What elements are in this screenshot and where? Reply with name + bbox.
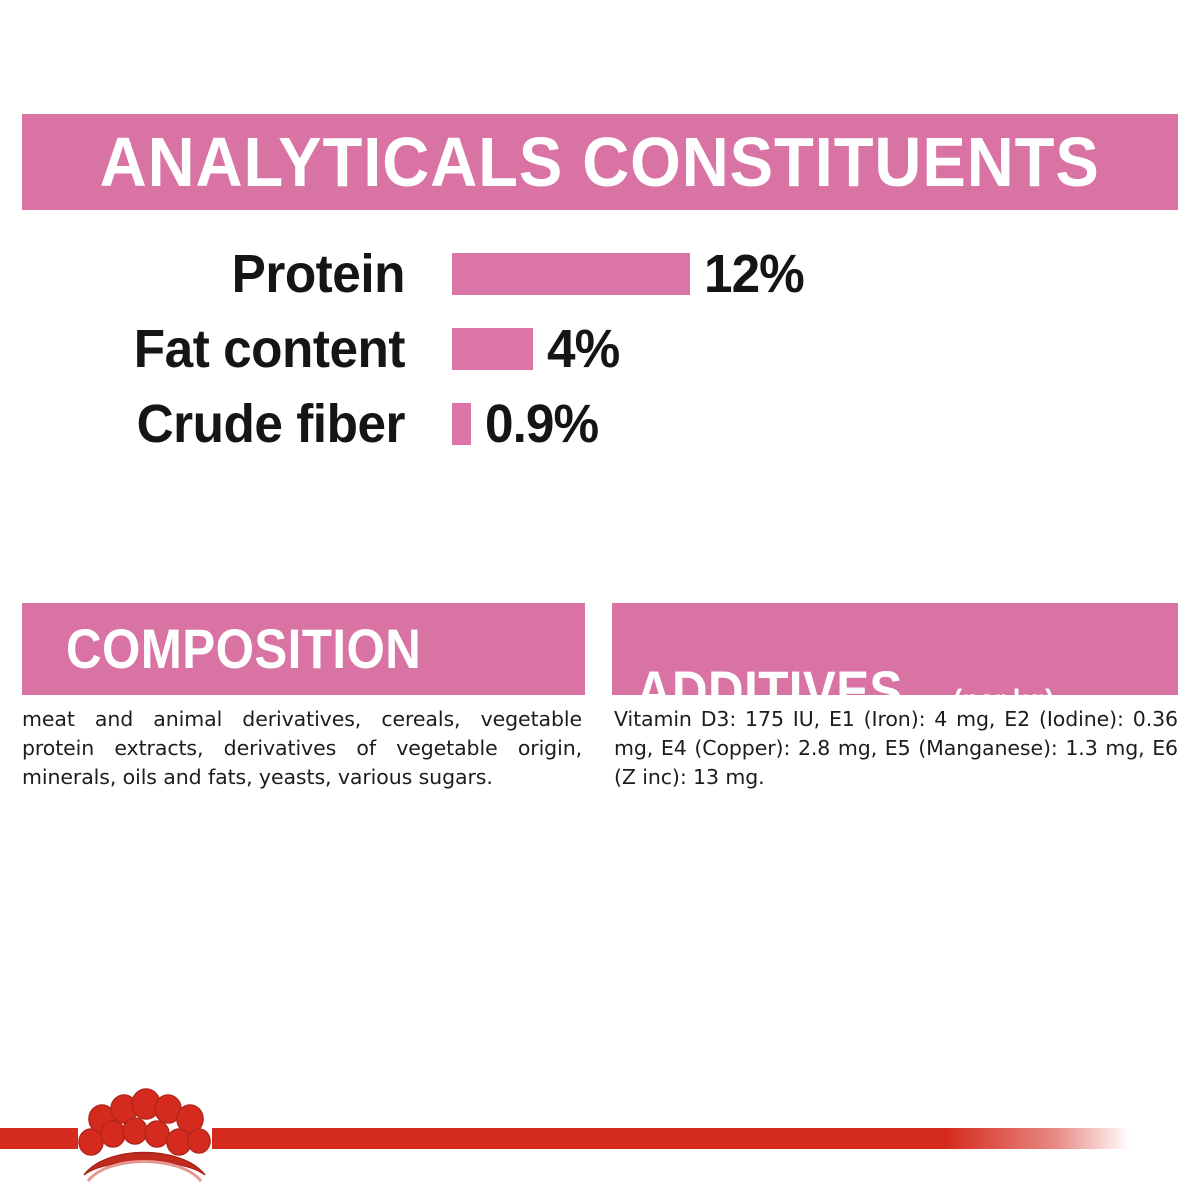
footer-brand-bar bbox=[0, 1085, 1200, 1200]
composition-banner: COMPOSITION bbox=[22, 603, 585, 695]
bar-group-crude-fiber: 0.9% bbox=[452, 397, 604, 451]
additives-heading: ADDITIVES bbox=[636, 663, 903, 695]
page-title: ANALYTICALS CONSTITUENTS bbox=[100, 126, 1100, 198]
bar-group-protein: 12% bbox=[452, 247, 809, 301]
additives-subheading: (per kg) bbox=[953, 686, 1054, 695]
composition-heading: COMPOSITION bbox=[66, 620, 421, 678]
additives-banner: ADDITIVES (per kg) bbox=[612, 603, 1178, 695]
bar-fat-content bbox=[452, 328, 533, 370]
chart-row-fat-content: Fat content 4% bbox=[0, 311, 1200, 386]
bar-label-crude-fiber: Crude fiber bbox=[0, 396, 405, 452]
composition-body-text: meat and animal derivatives, cereals, ve… bbox=[22, 705, 582, 792]
bar-value-crude-fiber: 0.9% bbox=[485, 397, 598, 451]
bar-crude-fiber bbox=[452, 403, 471, 445]
additives-body-text: Vitamin D3: 175 IU, E1 (Iron): 4 mg, E2 … bbox=[614, 705, 1178, 792]
chart-row-protein: Protein 12% bbox=[0, 236, 1200, 311]
bar-value-fat-content: 4% bbox=[547, 322, 619, 376]
chart-row-crude-fiber: Crude fiber 0.9% bbox=[0, 386, 1200, 461]
bar-group-fat-content: 4% bbox=[452, 322, 623, 376]
bar-protein bbox=[452, 253, 690, 295]
analyticals-constituents-banner: ANALYTICALS CONSTITUENTS bbox=[22, 114, 1178, 210]
analyticals-bar-chart: Protein 12% Fat content 4% Crude fiber 0… bbox=[0, 236, 1200, 461]
bar-label-fat-content: Fat content bbox=[0, 321, 405, 377]
bar-label-protein: Protein bbox=[0, 246, 405, 302]
brand-rule-left bbox=[0, 1128, 78, 1149]
royal-canin-crown-logo bbox=[72, 1085, 220, 1193]
brand-rule-right bbox=[212, 1128, 1130, 1149]
additives-heading-row: ADDITIVES (per kg) bbox=[636, 603, 1063, 695]
bar-value-protein: 12% bbox=[704, 247, 804, 301]
nutrition-panel: ANALYTICALS CONSTITUENTS Protein 12% Fat… bbox=[0, 0, 1200, 1200]
